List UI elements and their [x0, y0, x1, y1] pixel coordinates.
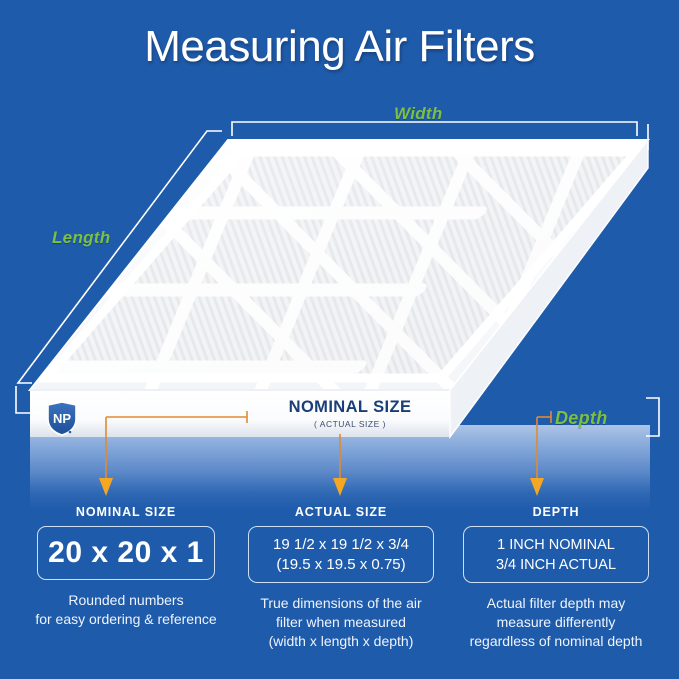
caption-line: measure differently: [442, 613, 670, 632]
infographic-canvas: Measuring Air Filters: [0, 0, 679, 679]
nominal-size-band-subtitle: ( ACTUAL SIZE ): [265, 418, 435, 430]
caption-line: regardless of nominal depth: [442, 632, 670, 651]
legend-column-depth: DEPTH 1 INCH NOMINAL 3/4 INCH ACTUAL Act…: [442, 505, 670, 651]
depth-label: Depth: [555, 408, 608, 429]
actual-size-value-line-1: 19 1/2 x 19 1/2 x 3/4: [273, 535, 409, 555]
legend-columns: NOMINAL SIZE 20 x 20 x 1 Rounded numbers…: [0, 505, 679, 679]
legend-header: NOMINAL SIZE: [12, 505, 240, 519]
actual-size-value-box: 19 1/2 x 19 1/2 x 3/4 (19.5 x 19.5 x 0.7…: [248, 526, 434, 583]
width-label: Width: [394, 104, 443, 124]
legend-caption: True dimensions of the air filter when m…: [236, 594, 446, 651]
nominal-size-value: 20 x 20 x 1: [48, 537, 204, 569]
caption-line: for easy ordering & reference: [12, 610, 240, 629]
np-logo-text: NP: [53, 411, 71, 426]
page-title: Measuring Air Filters: [0, 20, 679, 74]
filter-glow: [30, 425, 650, 510]
caption-line: filter when measured: [236, 613, 446, 632]
legend-header: ACTUAL SIZE: [236, 505, 446, 519]
caption-line: Actual filter depth may: [442, 594, 670, 613]
depth-value-line-1: 1 INCH NOMINAL: [497, 535, 615, 555]
legend-header: DEPTH: [442, 505, 670, 519]
length-label: Length: [52, 228, 110, 248]
depth-value-line-2: 3/4 INCH ACTUAL: [496, 555, 616, 575]
nominal-size-band: NOMINAL SIZE ( ACTUAL SIZE ): [265, 398, 435, 430]
depth-value-box: 1 INCH NOMINAL 3/4 INCH ACTUAL: [463, 526, 649, 583]
nominal-size-value-box: 20 x 20 x 1: [37, 526, 215, 580]
np-shield-logo: NP: [45, 401, 79, 437]
caption-line: (width x length x depth): [236, 632, 446, 651]
legend-column-nominal-size: NOMINAL SIZE 20 x 20 x 1 Rounded numbers…: [12, 505, 240, 629]
legend-caption: Actual filter depth may measure differen…: [442, 594, 670, 651]
legend-caption: Rounded numbers for easy ordering & refe…: [12, 591, 240, 629]
nominal-size-band-title: NOMINAL SIZE: [265, 398, 435, 417]
actual-size-value-line-2: (19.5 x 19.5 x 0.75): [276, 555, 405, 575]
caption-line: Rounded numbers: [12, 591, 240, 610]
legend-column-actual-size: ACTUAL SIZE 19 1/2 x 19 1/2 x 3/4 (19.5 …: [236, 505, 446, 651]
caption-line: True dimensions of the air: [236, 594, 446, 613]
